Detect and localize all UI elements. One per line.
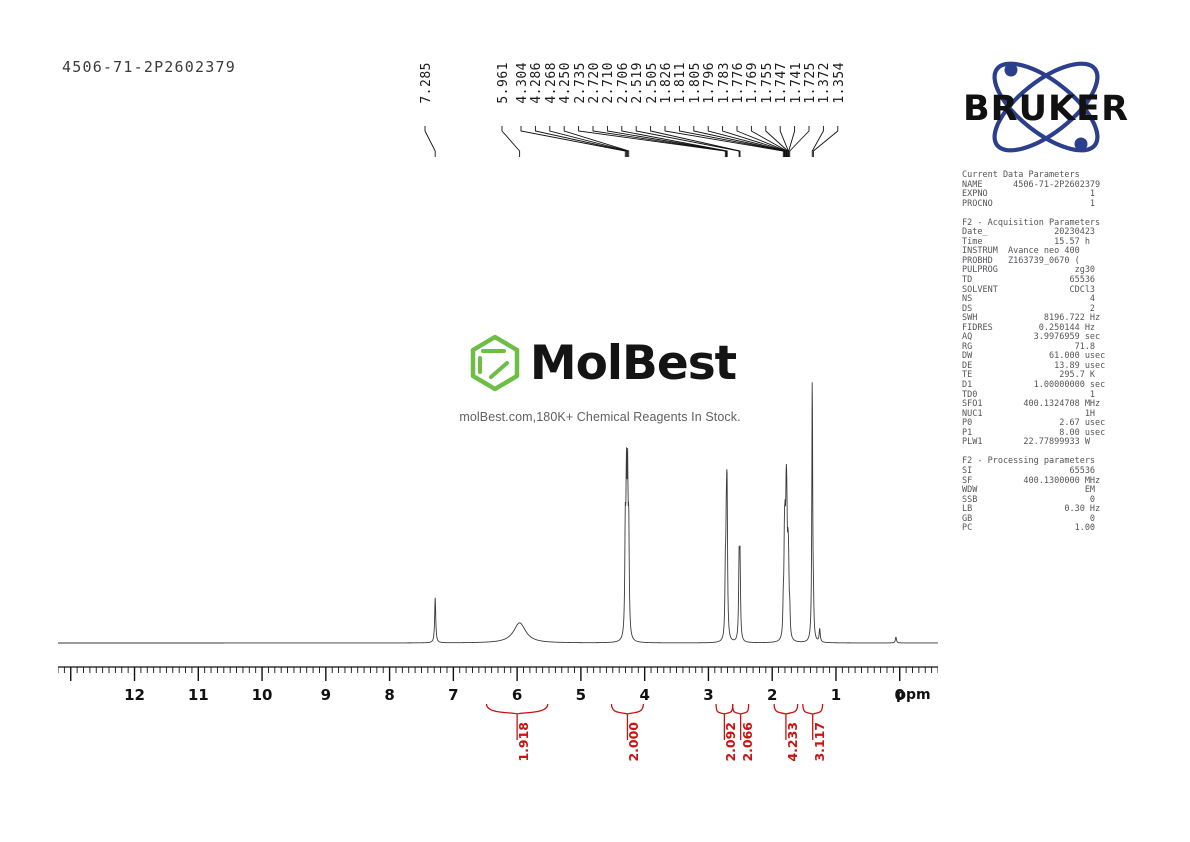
peak-leader-line — [679, 126, 784, 157]
peak-leader-line — [636, 126, 739, 157]
axis-ruler — [58, 664, 938, 686]
integral-value-label: 2.092 — [725, 722, 738, 762]
bruker-wordmark: BRUKER — [963, 89, 1129, 129]
peak-leader-line — [622, 126, 727, 157]
peak-leader-line — [812, 126, 823, 157]
acquisition-parameter-block: Current Data Parameters NAME 4506-71-2P2… — [962, 171, 1142, 534]
integral-curves — [58, 700, 938, 740]
peak-leader-line — [708, 126, 785, 157]
integral-value-label: 3.117 — [814, 722, 827, 762]
integral-region: 1.9182.0002.0922.0664.2333.117 — [58, 700, 938, 780]
peak-leader-line — [790, 126, 809, 157]
peak-leader-line — [579, 126, 726, 157]
peak-leader-line — [535, 126, 626, 157]
bruker-logo: BRUKER — [960, 52, 1132, 162]
orbit-node-top — [1005, 64, 1018, 77]
integral-value-label: 4.233 — [787, 722, 800, 762]
nmr-spectrum-plot — [58, 300, 938, 650]
spectrum-line — [58, 382, 938, 643]
spectrum-trace — [58, 300, 938, 650]
integral-value-label: 2.066 — [742, 722, 755, 762]
orbit-node-bottom — [1075, 138, 1088, 151]
peak-leader-line — [425, 126, 435, 157]
bruker-logo-svg: BRUKER — [960, 52, 1132, 162]
peak-leader-line — [521, 126, 625, 157]
integral-value-label: 1.918 — [518, 722, 531, 762]
integral-value-label: 2.000 — [628, 722, 641, 762]
peak-leader-line — [593, 126, 726, 157]
peak-leader-line — [737, 126, 786, 157]
peak-leader-line — [502, 126, 520, 157]
peak-leader-line — [550, 126, 628, 157]
